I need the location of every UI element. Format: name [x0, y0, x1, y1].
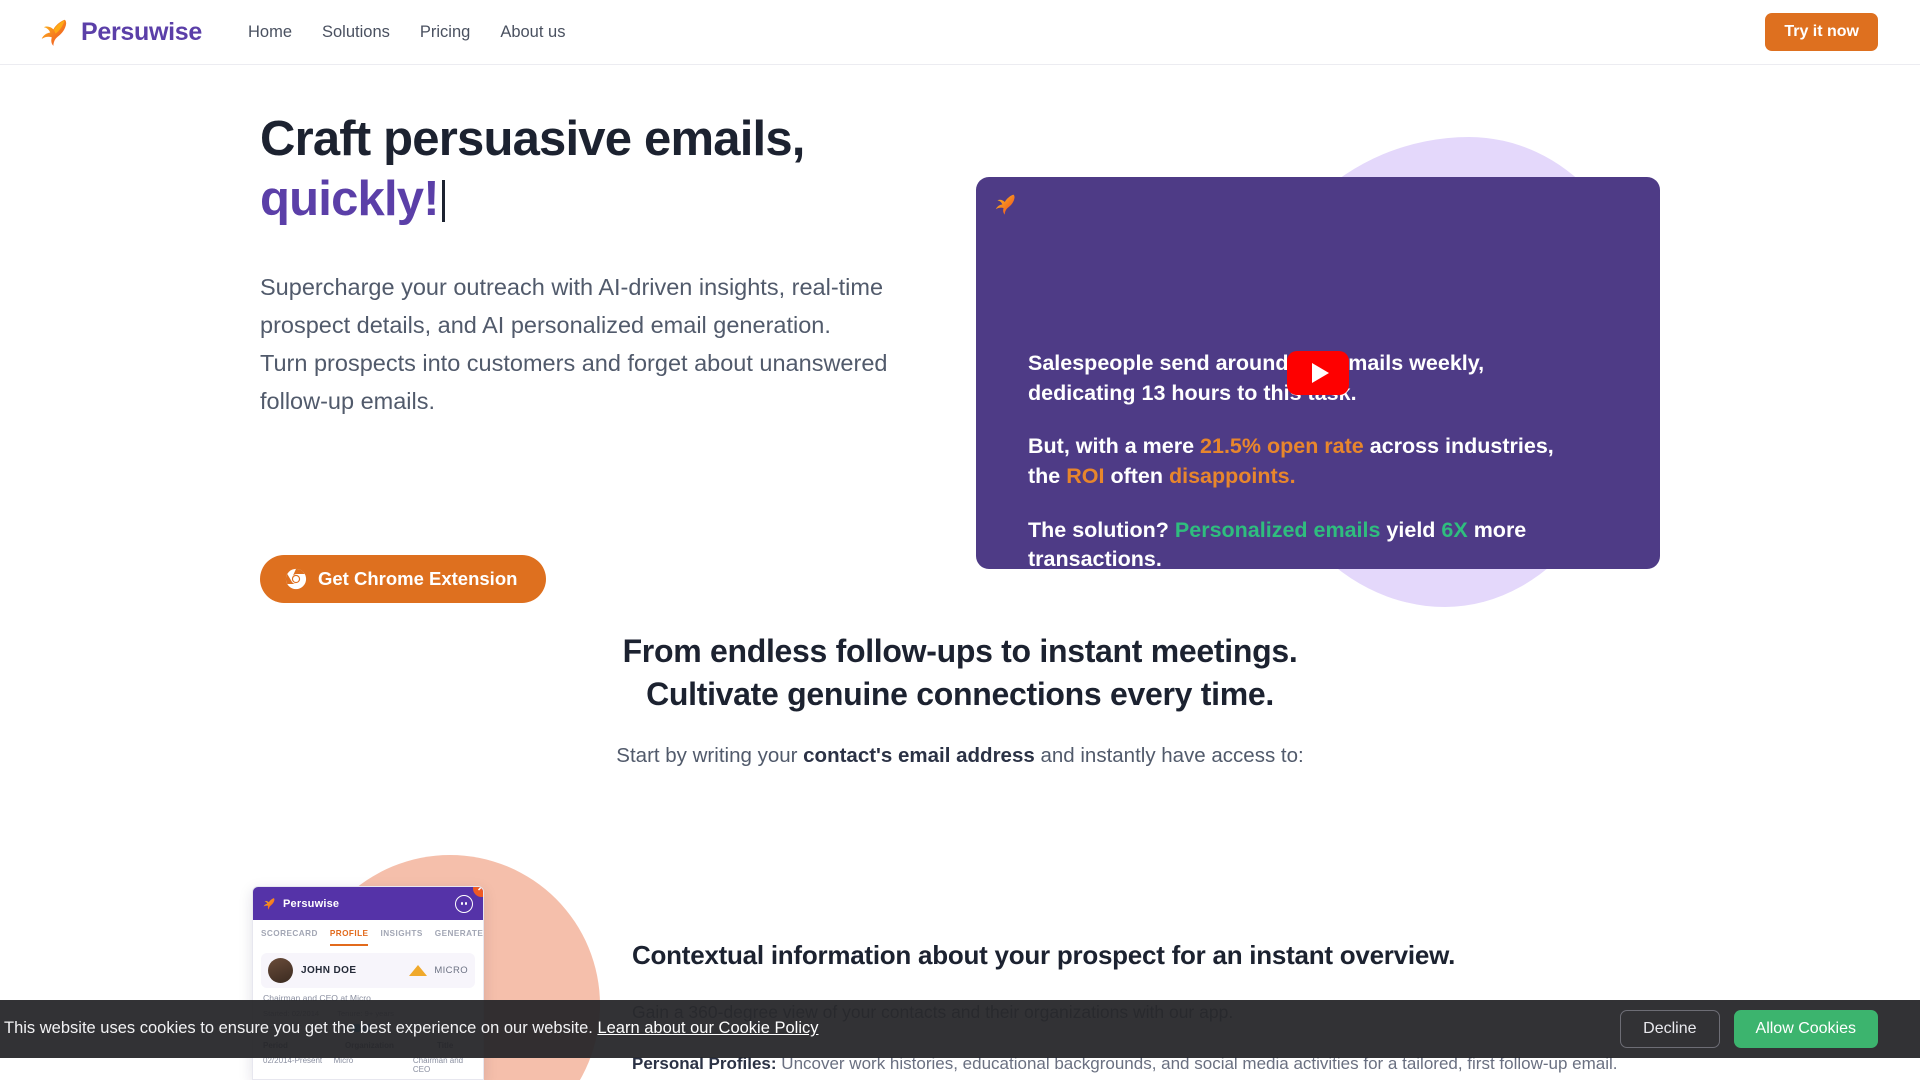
hero-title-line2: quickly!: [260, 170, 960, 230]
contact-name: JOHN DOE: [301, 965, 356, 976]
app-brand-name: Persuwise: [283, 898, 339, 910]
card-stat-disappoints: disappoints.: [1169, 464, 1296, 488]
card-line-1a: Salespeople send around 150 emails weekl…: [1028, 351, 1484, 375]
app-tab-profile[interactable]: PROFILE: [330, 929, 369, 946]
card-line-2-mid: across industries,: [1364, 434, 1554, 458]
nav-item-home[interactable]: Home: [248, 24, 292, 41]
nav-item-about-us[interactable]: About us: [500, 24, 565, 41]
hummingbird-logo-icon: [38, 15, 72, 49]
card-stat-roi: ROI: [1066, 464, 1104, 488]
mid-subheading: Start by writing your contact's email ad…: [0, 742, 1920, 771]
hero-paragraph-1: Supercharge your outreach with AI-driven…: [260, 268, 960, 344]
hero-paragraphs: Supercharge your outreach with AI-driven…: [260, 268, 960, 420]
cell-organization: Micro: [334, 1056, 413, 1074]
mid-sub-bold: contact's email address: [803, 744, 1035, 767]
decline-cookies-button[interactable]: Decline: [1620, 1010, 1719, 1048]
company-logo-icon: [409, 965, 427, 976]
cookie-message-text: This website uses cookies to ensure you …: [4, 1019, 593, 1037]
chrome-button-label: Get Chrome Extension: [318, 568, 517, 590]
card-line-4-mid: yield: [1380, 518, 1441, 542]
cookie-consent-banner: This website uses cookies to ensure you …: [0, 1000, 1920, 1058]
table-row: 02/2014-Present Micro Chairman and CEO: [263, 1056, 473, 1074]
youtube-play-icon[interactable]: [1287, 351, 1349, 395]
mid-heading-line2: Cultivate genuine connections every time…: [0, 673, 1920, 716]
hero-title: Craft persuasive emails, quickly!: [260, 110, 960, 230]
hero-title-line1: Craft persuasive emails,: [260, 112, 805, 166]
hummingbird-icon: [262, 896, 277, 911]
hero-copy: Craft persuasive emails, quickly! Superc…: [260, 110, 960, 420]
card-block-3: The solution? Personalized emails yield …: [1028, 516, 1620, 569]
card-line-2-pre: But, with a mere: [1028, 434, 1200, 458]
spacer: [1028, 408, 1620, 432]
hero-section: Craft persuasive emails, quickly! Superc…: [0, 65, 1920, 620]
landing-page: Persuwise Home Solutions Pricing About u…: [0, 0, 1920, 1080]
site-header: Persuwise Home Solutions Pricing About u…: [0, 0, 1920, 65]
drag-handle-icon[interactable]: [332, 886, 404, 895]
cell-title: Chairman and CEO: [413, 1056, 473, 1074]
cookie-policy-link[interactable]: Learn about our Cookie Policy: [597, 1019, 818, 1037]
video-promo-card[interactable]: Salespeople send around 150 emails weekl…: [976, 177, 1660, 569]
mid-section: From endless follow-ups to instant meeti…: [0, 630, 1920, 771]
app-tabs: SCORECARD PROFILE INSIGHTS GENERATE: [253, 920, 483, 946]
company-name: MICRO: [434, 965, 468, 976]
app-tab-insights[interactable]: INSIGHTS: [380, 929, 422, 946]
hummingbird-icon: [993, 191, 1019, 217]
nav-item-pricing[interactable]: Pricing: [420, 24, 470, 41]
card-line-4-post: more: [1468, 518, 1527, 542]
cookie-actions: Decline Allow Cookies: [1620, 1010, 1878, 1048]
typing-caret: [442, 180, 445, 222]
cell-period: 02/2014-Present: [263, 1056, 334, 1074]
hero-paragraph-2: Turn prospects into customers and forget…: [260, 344, 960, 420]
mid-heading-line1: From endless follow-ups to instant meeti…: [0, 630, 1920, 673]
get-chrome-extension-button[interactable]: Get Chrome Extension: [260, 555, 546, 603]
app-contact-row: JOHN DOE MICRO: [261, 953, 475, 988]
mid-sub-pre: Start by writing your: [616, 744, 803, 767]
card-line-5: transactions.: [1028, 547, 1162, 569]
brand-logo[interactable]: Persuwise: [38, 15, 202, 49]
chrome-icon: [285, 568, 307, 590]
play-triangle-icon: [1312, 363, 1329, 383]
company-block: MICRO: [409, 965, 468, 976]
try-it-now-button[interactable]: Try it now: [1765, 13, 1878, 51]
app-tab-scorecard[interactable]: SCORECARD: [261, 929, 318, 946]
cookie-message: This website uses cookies to ensure you …: [4, 1018, 819, 1039]
avatar: [268, 958, 293, 983]
feature-heading: Contextual information about your prospe…: [632, 940, 1742, 971]
card-stat-6x: 6X: [1441, 518, 1467, 542]
mid-heading: From endless follow-ups to instant meeti…: [0, 630, 1920, 715]
card-block-2: But, with a mere 21.5% open rate across …: [1028, 432, 1620, 491]
brand-name: Persuwise: [81, 20, 202, 45]
card-line-4-pre: The solution?: [1028, 518, 1175, 542]
allow-cookies-button[interactable]: Allow Cookies: [1734, 1010, 1878, 1048]
card-stat-open-rate: 21.5% open rate: [1200, 434, 1364, 458]
app-tab-generate[interactable]: GENERATE: [435, 929, 483, 946]
card-line-3-pre: the: [1028, 464, 1066, 488]
nav-item-solutions[interactable]: Solutions: [322, 24, 390, 41]
spacer: [1028, 492, 1620, 516]
card-line-3-mid: often: [1104, 464, 1169, 488]
smiley-icon[interactable]: [455, 895, 473, 913]
primary-nav: Home Solutions Pricing About us: [248, 24, 565, 41]
card-stat-personalized-emails: Personalized emails: [1175, 518, 1381, 542]
mid-sub-post: and instantly have access to:: [1035, 744, 1304, 767]
